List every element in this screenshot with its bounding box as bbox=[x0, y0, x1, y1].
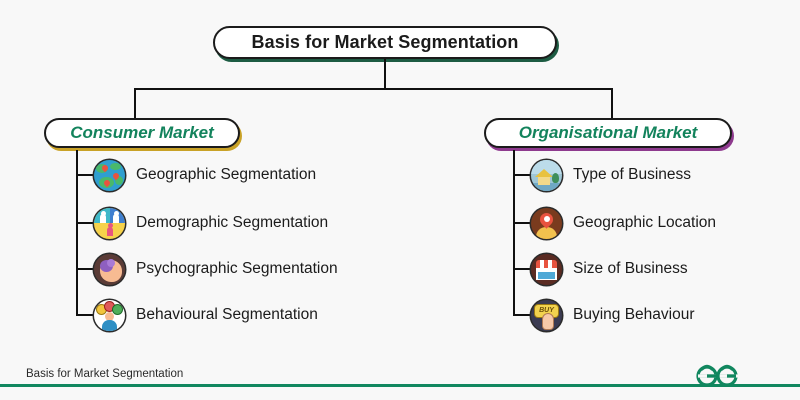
list-item-label: Buying Behaviour bbox=[573, 306, 695, 324]
list-item-label: Size of Business bbox=[573, 260, 688, 278]
footer-caption: Basis for Market Segmentation bbox=[26, 368, 183, 380]
list-item: Type of Business bbox=[531, 159, 691, 191]
branch-header-consumer-market: Consumer Market bbox=[44, 118, 240, 148]
connector-left-drop bbox=[134, 88, 136, 119]
list-item-label: Behavioural Segmentation bbox=[136, 306, 318, 324]
buy-button-hand-icon: BUY bbox=[531, 300, 562, 331]
bracket-stub-left-3 bbox=[76, 268, 94, 270]
list-item: Psychographic Segmentation bbox=[94, 253, 338, 285]
bracket-stub-left-1 bbox=[76, 174, 94, 176]
bracket-stub-left-2 bbox=[76, 222, 94, 224]
list-item: Geographic Segmentation bbox=[94, 159, 316, 191]
list-item: Geographic Location bbox=[531, 207, 716, 239]
connector-horizontal-bar bbox=[134, 88, 613, 90]
demographics-pie-icon bbox=[94, 208, 125, 239]
connector-root-stem bbox=[384, 59, 386, 89]
list-item-label: Geographic Location bbox=[573, 214, 716, 232]
bracket-stub-right-2 bbox=[513, 222, 531, 224]
person-reactions-icon bbox=[94, 300, 125, 331]
root-node-label: Basis for Market Segmentation bbox=[252, 32, 519, 53]
list-item-label: Geographic Segmentation bbox=[136, 166, 316, 184]
landscape-building-icon bbox=[531, 160, 562, 191]
list-item: BUY Buying Behaviour bbox=[531, 299, 695, 331]
diagram-canvas: Basis for Market Segmentation Consumer M… bbox=[0, 0, 800, 400]
list-item: Size of Business bbox=[531, 253, 688, 285]
bracket-stub-right-3 bbox=[513, 268, 531, 270]
bracket-stub-left-4 bbox=[76, 314, 94, 316]
storefront-icon bbox=[531, 254, 562, 285]
globe-icon bbox=[94, 160, 125, 191]
branch-title-organisational-market: Organisational Market bbox=[519, 123, 698, 143]
connector-right-drop bbox=[611, 88, 613, 119]
footer-rule bbox=[0, 384, 800, 387]
branch-header-organisational-market: Organisational Market bbox=[484, 118, 732, 148]
bracket-stub-right-4 bbox=[513, 314, 531, 316]
map-pin-person-icon bbox=[531, 208, 562, 239]
list-item-label: Psychographic Segmentation bbox=[136, 260, 338, 278]
list-item: Behavioural Segmentation bbox=[94, 299, 318, 331]
head-brain-icon bbox=[94, 254, 125, 285]
bracket-stub-right-1 bbox=[513, 174, 531, 176]
geeksforgeeks-logo bbox=[690, 362, 748, 388]
root-node: Basis for Market Segmentation bbox=[213, 26, 557, 59]
list-item-label: Demographic Segmentation bbox=[136, 214, 328, 232]
list-item-label: Type of Business bbox=[573, 166, 691, 184]
branch-title-consumer-market: Consumer Market bbox=[70, 123, 214, 143]
list-item: Demographic Segmentation bbox=[94, 207, 328, 239]
